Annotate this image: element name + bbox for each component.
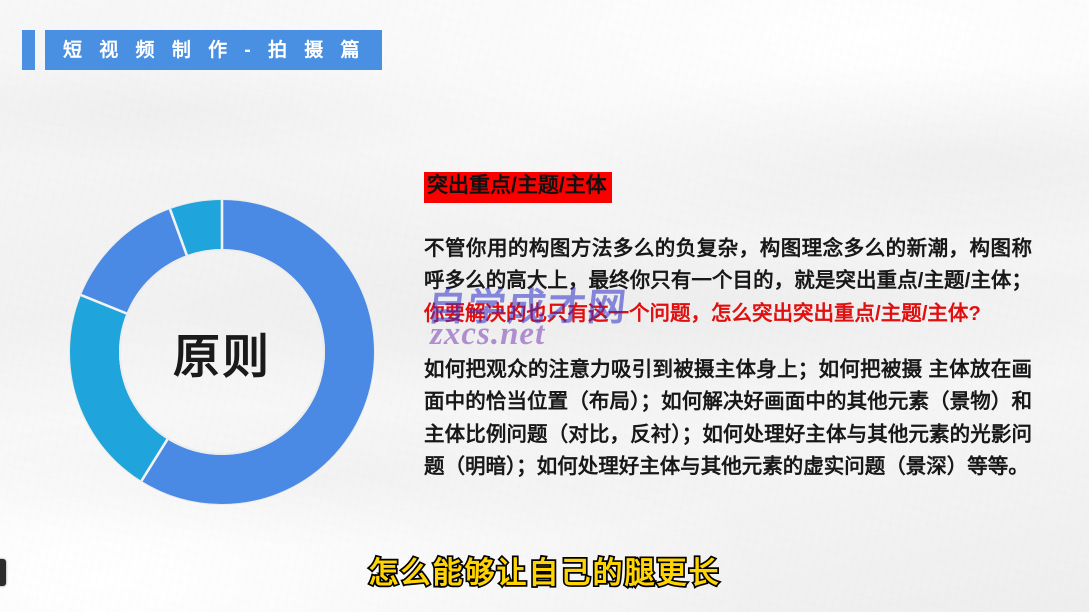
video-caption: 怎么能够让自己的腿更长 bbox=[0, 548, 1089, 592]
slide-canvas: 短 视 频 制 作 - 拍 摄 篇 bbox=[0, 0, 1089, 612]
headline-highlight: 突出重点/主题/主体 bbox=[424, 172, 612, 203]
header-accent-tick bbox=[22, 30, 35, 70]
header-spacer bbox=[35, 30, 45, 70]
headline-wrapper: 突出重点/主题/主体 bbox=[424, 172, 1032, 203]
donut-center-label: 原则 bbox=[63, 193, 381, 511]
paragraph-two: 如何把观众的注意力吸引到被摄主体身上；如何把被摄 主体放在画面中的恰当位置（布局… bbox=[424, 354, 1032, 484]
player-edge-handle[interactable] bbox=[0, 559, 6, 586]
slide-header: 短 视 频 制 作 - 拍 摄 篇 bbox=[22, 30, 382, 70]
content-column: 突出重点/主题/主体 不管你用的构图方法多么的负复杂，构图理念多么的新潮，构图称… bbox=[424, 172, 1032, 504]
paragraph-one-red: 你要解决的也只有这一个问题，怎么突出突出重点/主题/主体? bbox=[424, 302, 981, 325]
paragraph-one: 不管你用的构图方法多么的负复杂，构图理念多么的新潮，构图称呼多么的高大上，最终你… bbox=[424, 233, 1032, 330]
donut-chart: 原则 bbox=[63, 193, 381, 511]
header-title-bar: 短 视 频 制 作 - 拍 摄 篇 bbox=[45, 30, 382, 70]
paragraph-one-black: 不管你用的构图方法多么的负复杂，构图理念多么的新潮，构图称呼多么的高大上，最终你… bbox=[424, 237, 1032, 292]
page-title: 短 视 频 制 作 - 拍 摄 篇 bbox=[63, 41, 366, 60]
